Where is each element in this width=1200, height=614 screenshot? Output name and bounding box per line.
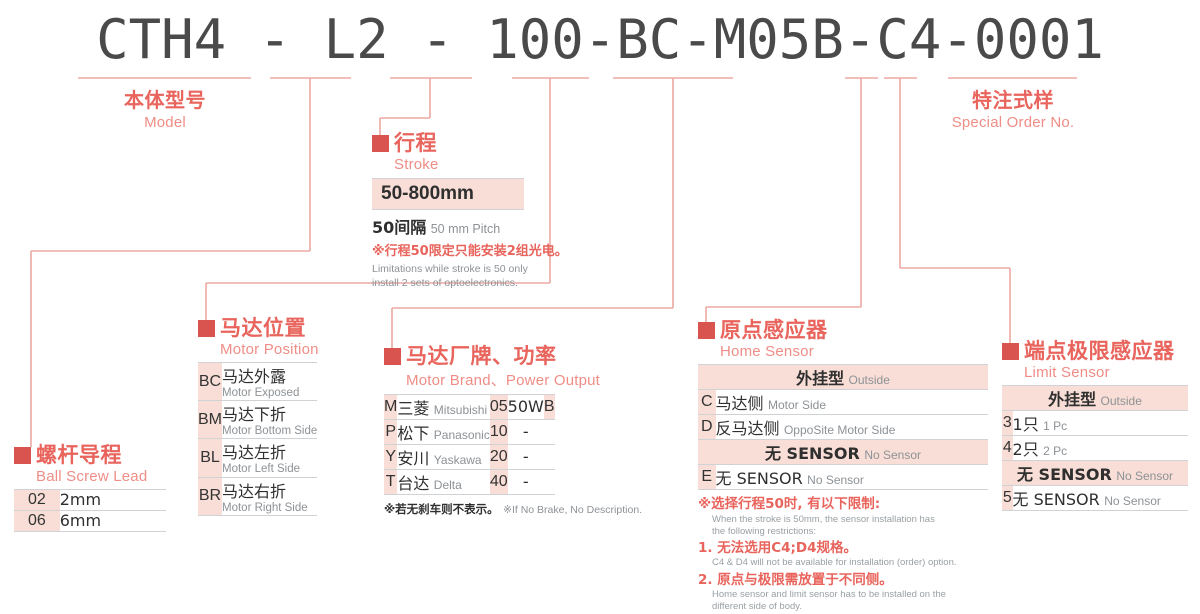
limit-sensor-table: 外挂型 Outside 3 1只 1 Pc 4 2只 2 Pc — [1002, 385, 1188, 511]
table-row: 06 6mm — [14, 511, 166, 532]
lead-code-cell: 02 — [14, 490, 60, 511]
square-marker-icon — [372, 135, 389, 152]
lead-value-text: 6mm — [60, 511, 101, 530]
square-marker-icon — [698, 322, 715, 339]
motor-position-value-cn: 马达外露 — [222, 367, 286, 386]
motor-position-code: BL — [198, 439, 222, 477]
table-row: 5 无 SENSOR No Sensor — [1002, 486, 1188, 511]
stroke-pitch: 50间隔 50 mm Pitch — [372, 214, 568, 238]
motor-brand-footnote-cn: ※若无刹车则不表示。 — [384, 502, 499, 516]
home-sensor-band-nosensor-en: No Sensor — [864, 448, 921, 462]
section-limit-sensor: 端点极限感应器 Limit Sensor 外挂型 Outside 3 1只 1 … — [1002, 341, 1188, 511]
limit-sensor-band-outside: 外挂型 Outside — [1002, 386, 1188, 411]
brand-code: Y — [384, 445, 397, 470]
square-marker-icon — [384, 348, 401, 365]
limit-sensor-tbody: 外挂型 Outside 3 1只 1 Pc 4 2只 2 Pc — [1002, 386, 1188, 511]
brand-name-en: Panasonic — [434, 428, 490, 442]
lead-value-cell: 6mm — [60, 511, 166, 532]
limit-sensor-value-en: 2 Pc — [1043, 444, 1067, 458]
motor-brand-table: M 三菱 Mitsubishi 05 50W B P 松下 Panason — [384, 394, 555, 495]
special-order-label-en: Special Order No. — [948, 114, 1078, 131]
motor-position-table: BC 马达外露 Motor Exposed BM 马达下折 Motor Bott… — [198, 362, 317, 516]
home-sensor-value-cn: 马达侧 — [716, 394, 764, 413]
restriction-item2-en-1: Home sensor and limit sensor has to be i… — [712, 589, 988, 601]
home-sensor-value: 无 SENSOR No Sensor — [716, 465, 989, 490]
table-row: 3 1只 1 Pc — [1002, 411, 1188, 436]
section-motor-brand: 马达厂牌、功率 Motor Brand、Power Output M 三菱 Mi… — [384, 346, 642, 518]
motor-position-code: BC — [198, 363, 222, 401]
special-order-label: 特注式样 Special Order No. — [948, 84, 1078, 131]
motor-brand-en: Motor Brand、Power Output — [406, 369, 642, 390]
diagram-canvas: CTH4 - L2 - 100-BC-M05B-C4-0001 — [0, 0, 1200, 601]
limit-sensor-cn: 端点极限感应器 — [1024, 341, 1175, 362]
table-row-band: 外挂型 Outside — [698, 365, 988, 390]
limit-sensor-code: 3 — [1002, 411, 1013, 436]
brand-code: P — [384, 420, 397, 445]
brake-code: B — [544, 395, 555, 420]
section-ball-screw-lead: 螺杆导程 Ball Screw Lead 02 2mm 06 6mm — [14, 445, 166, 532]
stroke-note-cn: ※行程50限定只能安装2组光电。 — [372, 244, 568, 260]
table-row: C 马达侧 Motor Side — [698, 390, 988, 415]
power-value: - — [508, 445, 544, 470]
motor-position-value-cn: 马达右折 — [222, 482, 286, 501]
limit-sensor-band-outside-en: Outside — [1101, 394, 1142, 408]
motor-brand-tbody: M 三菱 Mitsubishi 05 50W B P 松下 Panason — [384, 395, 555, 495]
restriction-title-en-1: When the stroke is 50mm, the sensor inst… — [712, 514, 988, 526]
power-value-text: - — [523, 422, 529, 441]
ball-screw-lead-tbody: 02 2mm 06 6mm — [14, 490, 166, 532]
power-code: 40 — [490, 470, 508, 495]
brand-name: 安川 Yaskawa — [397, 445, 490, 470]
brake-code — [544, 470, 555, 495]
limit-sensor-code: 5 — [1002, 486, 1013, 511]
motor-position-cn: 马达位置 — [220, 318, 306, 339]
table-row: Y 安川 Yaskawa 20 - — [384, 445, 555, 470]
home-sensor-band-outside: 外挂型 Outside — [698, 365, 988, 390]
power-code: 10 — [490, 420, 508, 445]
power-value-text: - — [523, 447, 529, 466]
home-sensor-band-outside-cn: 外挂型 — [796, 369, 844, 388]
home-sensor-restrictions: ※选择行程50时, 有以下限制: When the stroke is 50mm… — [698, 496, 988, 614]
motor-position-code: BR — [198, 477, 222, 515]
power-value: - — [508, 470, 544, 495]
motor-position-value-en: Motor Left Side — [222, 463, 317, 476]
limit-sensor-band-nosensor-cn: 无 SENSOR — [1017, 465, 1112, 484]
limit-sensor-en: Limit Sensor — [1024, 364, 1188, 381]
home-sensor-tbody: 外挂型 Outside C 马达侧 Motor Side D 反马达侧 Oppo — [698, 365, 988, 490]
limit-sensor-band-nosensor: 无 SENSOR No Sensor — [1002, 461, 1188, 486]
table-row-band: 无 SENSOR No Sensor — [698, 440, 988, 465]
limit-sensor-code: 4 — [1002, 436, 1013, 461]
restriction-item1-cn: 1. 无法选用C4;D4规格。 — [698, 539, 988, 557]
product-code: CTH4 - L2 - 100-BC-M05B-C4-0001 — [0, 8, 1200, 71]
section-motor-position: 马达位置 Motor Position BC 马达外露 Motor Expose… — [198, 318, 319, 516]
brand-name-en: Delta — [434, 478, 462, 492]
table-row: E 无 SENSOR No Sensor — [698, 465, 988, 490]
limit-sensor-value-en: 1 Pc — [1043, 419, 1067, 433]
ball-screw-lead-cn: 螺杆导程 — [36, 445, 122, 466]
table-row: 02 2mm — [14, 490, 166, 511]
limit-sensor-value: 2只 2 Pc — [1013, 436, 1188, 461]
limit-sensor-band-outside-cn: 外挂型 — [1048, 390, 1096, 409]
brand-name: 松下 Panasonic — [397, 420, 490, 445]
special-order-label-cn: 特注式样 — [948, 84, 1078, 113]
table-row: BC 马达外露 Motor Exposed — [198, 363, 317, 401]
brand-code: M — [384, 395, 397, 420]
motor-position-code: BM — [198, 401, 222, 439]
section-stroke: 行程 Stroke 50-800mm 50间隔 50 mm Pitch ※行程5… — [372, 133, 568, 291]
lead-value-cell: 2mm — [60, 490, 166, 511]
table-row-band: 外挂型 Outside — [1002, 386, 1188, 411]
power-value: 50W — [508, 395, 544, 420]
restriction-title-cn: ※选择行程50时, 有以下限制: — [698, 496, 988, 514]
stroke-pitch-en: 50 mm Pitch — [431, 222, 500, 236]
square-marker-icon — [14, 447, 31, 464]
home-sensor-value-cn: 无 SENSOR — [716, 469, 803, 488]
home-sensor-cn: 原点感应器 — [720, 320, 828, 341]
restriction-item1-en: C4 & D4 will not be available for instal… — [712, 557, 988, 569]
limit-sensor-value-en: No Sensor — [1104, 494, 1161, 508]
home-sensor-band-outside-en: Outside — [849, 373, 890, 387]
brand-name: 台达 Delta — [397, 470, 490, 495]
brand-name-cn: 三菱 — [397, 399, 429, 418]
motor-position-value-en: Motor Right Side — [222, 502, 317, 515]
home-sensor-value-en: Motor Side — [768, 398, 826, 412]
motor-position-value-en: Motor Exposed — [222, 387, 317, 400]
limit-sensor-value-cn: 无 SENSOR — [1013, 490, 1100, 509]
motor-position-value: 马达右折 Motor Right Side — [222, 477, 317, 515]
stroke-pitch-cn: 50间隔 — [372, 218, 426, 237]
motor-position-header: 马达位置 — [198, 318, 319, 339]
table-row: 4 2只 2 Pc — [1002, 436, 1188, 461]
table-row: M 三菱 Mitsubishi 05 50W B — [384, 395, 555, 420]
ball-screw-lead-table: 02 2mm 06 6mm — [14, 489, 166, 532]
home-sensor-code: C — [698, 390, 716, 415]
ball-screw-lead-header: 螺杆导程 — [14, 445, 166, 466]
lead-value-text: 2mm — [60, 490, 101, 509]
home-sensor-value: 反马达侧 OppoSite Motor Side — [716, 415, 989, 440]
brand-name-cn: 松下 — [397, 424, 429, 443]
power-value-text: - — [523, 472, 529, 491]
stroke-note-en-1: Limitations while stroke is 50 only — [372, 263, 568, 277]
stroke-range-text: 50-800mm — [381, 183, 474, 204]
motor-position-value: 马达下折 Motor Bottom Side — [222, 401, 317, 439]
motor-brand-header: 马达厂牌、功率 — [384, 346, 642, 367]
motor-position-value: 马达外露 Motor Exposed — [222, 363, 317, 401]
home-sensor-code: E — [698, 465, 716, 490]
stroke-header: 行程 — [372, 133, 568, 154]
brake-code — [544, 445, 555, 470]
motor-brand-footnote: ※若无刹车则不表示。 ※If No Brake, No Description. — [384, 500, 642, 518]
ball-screw-lead-en: Ball Screw Lead — [36, 468, 166, 485]
stroke-range-band: 50-800mm — [372, 178, 524, 210]
home-sensor-value-en: OppoSite Motor Side — [784, 423, 895, 437]
model-label: 本体型号 Model — [80, 84, 250, 131]
power-code: 05 — [490, 395, 508, 420]
model-label-cn: 本体型号 — [80, 84, 250, 113]
restriction-item2-en-2: different side of body. — [712, 601, 988, 613]
home-sensor-code: D — [698, 415, 716, 440]
motor-position-tbody: BC 马达外露 Motor Exposed BM 马达下折 Motor Bott… — [198, 363, 317, 516]
home-sensor-en: Home Sensor — [720, 343, 988, 360]
motor-brand-cn: 马达厂牌、功率 — [406, 346, 557, 367]
stroke-note-en-2: install 2 sets of optoelectronics. — [372, 277, 568, 291]
brand-name-en: Yaskawa — [434, 453, 482, 467]
limit-sensor-value-cn: 2只 — [1013, 440, 1039, 459]
brand-name: 三菱 Mitsubishi — [397, 395, 490, 420]
lead-code-cell: 06 — [14, 511, 60, 532]
table-row: BM 马达下折 Motor Bottom Side — [198, 401, 317, 439]
power-value-text: 50W — [508, 397, 544, 416]
motor-brand-footnote-en: ※If No Brake, No Description. — [503, 504, 642, 516]
table-row: BR 马达右折 Motor Right Side — [198, 477, 317, 515]
brand-name-cn: 安川 — [397, 449, 429, 468]
home-sensor-band-nosensor-cn: 无 SENSOR — [765, 444, 860, 463]
table-row: T 台达 Delta 40 - — [384, 470, 555, 495]
home-sensor-band-nosensor: 无 SENSOR No Sensor — [698, 440, 988, 465]
table-row: P 松下 Panasonic 10 - — [384, 420, 555, 445]
table-row: BL 马达左折 Motor Left Side — [198, 439, 317, 477]
limit-sensor-band-nosensor-en: No Sensor — [1116, 469, 1173, 483]
power-value: - — [508, 420, 544, 445]
table-row-band: 无 SENSOR No Sensor — [1002, 461, 1188, 486]
square-marker-icon — [1002, 343, 1019, 360]
motor-position-value-cn: 马达下折 — [222, 405, 286, 424]
power-code: 20 — [490, 445, 508, 470]
square-marker-icon — [198, 320, 215, 337]
brand-name-en: Mitsubishi — [434, 403, 487, 417]
limit-sensor-header: 端点极限感应器 — [1002, 341, 1188, 362]
section-home-sensor: 原点感应器 Home Sensor 外挂型 Outside C 马达侧 Moto… — [698, 320, 988, 614]
motor-position-value-en: Motor Bottom Side — [222, 425, 317, 438]
motor-position-value-cn: 马达左折 — [222, 443, 286, 462]
motor-position-en: Motor Position — [220, 341, 319, 358]
brand-code: T — [384, 470, 397, 495]
stroke-cn: 行程 — [394, 133, 437, 154]
restriction-item2-cn: 2. 原点与极限需放置于不同侧。 — [698, 571, 988, 589]
model-label-en: Model — [80, 114, 250, 131]
motor-position-value: 马达左折 Motor Left Side — [222, 439, 317, 477]
limit-sensor-value-cn: 1只 — [1013, 415, 1039, 434]
limit-sensor-value: 无 SENSOR No Sensor — [1013, 486, 1188, 511]
home-sensor-value: 马达侧 Motor Side — [716, 390, 989, 415]
brand-name-cn: 台达 — [397, 474, 429, 493]
table-row: D 反马达侧 OppoSite Motor Side — [698, 415, 988, 440]
stroke-en: Stroke — [394, 156, 568, 173]
home-sensor-table: 外挂型 Outside C 马达侧 Motor Side D 反马达侧 Oppo — [698, 364, 988, 490]
home-sensor-value-en: No Sensor — [807, 473, 864, 487]
home-sensor-value-cn: 反马达侧 — [716, 419, 780, 438]
home-sensor-header: 原点感应器 — [698, 320, 988, 341]
restriction-title-en-2: the following restrictions: — [712, 526, 988, 538]
limit-sensor-value: 1只 1 Pc — [1013, 411, 1188, 436]
brake-code — [544, 420, 555, 445]
